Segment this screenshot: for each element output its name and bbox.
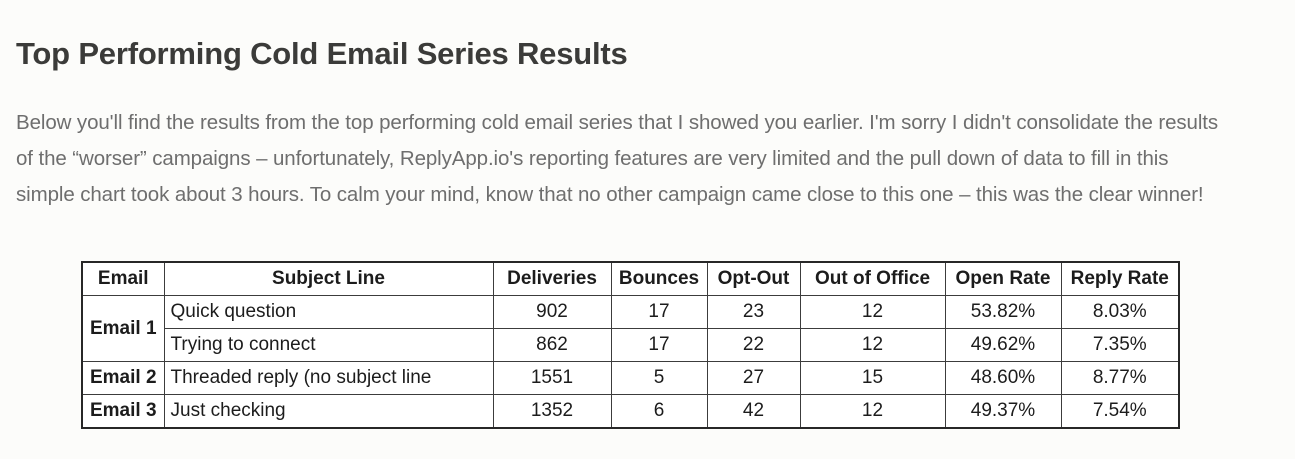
results-table-container: Email Subject Line Deliveries Bounces Op… <box>81 261 1178 429</box>
table-body: Email 1 Quick question 902 17 23 12 53.8… <box>82 296 1179 429</box>
cell-email: Email 3 <box>82 395 164 429</box>
cell-out-of-office: 12 <box>800 296 945 329</box>
cell-subject-line: Threaded reply (no subject line <box>164 362 493 395</box>
cell-opt-out: 27 <box>707 362 800 395</box>
cell-reply-rate: 7.35% <box>1061 329 1179 362</box>
cell-bounces: 5 <box>611 362 707 395</box>
cell-email: Email 2 <box>82 362 164 395</box>
document-page: Top Performing Cold Email Series Results… <box>0 0 1295 459</box>
column-header-reply-rate: Reply Rate <box>1061 262 1179 296</box>
cell-deliveries: 1551 <box>493 362 611 395</box>
column-header-email: Email <box>82 262 164 296</box>
column-header-subject-line: Subject Line <box>164 262 493 296</box>
cell-reply-rate: 7.54% <box>1061 395 1179 429</box>
column-header-out-of-office: Out of Office <box>800 262 945 296</box>
cell-opt-out: 42 <box>707 395 800 429</box>
column-header-deliveries: Deliveries <box>493 262 611 296</box>
column-header-opt-out: Opt-Out <box>707 262 800 296</box>
cell-deliveries: 902 <box>493 296 611 329</box>
cell-opt-out: 22 <box>707 329 800 362</box>
table-row: Email 2 Threaded reply (no subject line … <box>82 362 1179 395</box>
cell-out-of-office: 12 <box>800 329 945 362</box>
cell-open-rate: 53.82% <box>945 296 1061 329</box>
page-title: Top Performing Cold Email Series Results <box>16 35 628 72</box>
intro-paragraph: Below you'll find the results from the t… <box>16 105 1231 213</box>
cell-email: Email 1 <box>82 296 164 362</box>
cell-deliveries: 862 <box>493 329 611 362</box>
cell-reply-rate: 8.77% <box>1061 362 1179 395</box>
cell-subject-line: Just checking <box>164 395 493 429</box>
table-header: Email Subject Line Deliveries Bounces Op… <box>82 262 1179 296</box>
table-row: Email 1 Quick question 902 17 23 12 53.8… <box>82 296 1179 329</box>
cell-reply-rate: 8.03% <box>1061 296 1179 329</box>
cell-opt-out: 23 <box>707 296 800 329</box>
cell-bounces: 17 <box>611 296 707 329</box>
cell-bounces: 17 <box>611 329 707 362</box>
cell-out-of-office: 12 <box>800 395 945 429</box>
column-header-open-rate: Open Rate <box>945 262 1061 296</box>
column-header-bounces: Bounces <box>611 262 707 296</box>
cold-email-results-table: Email Subject Line Deliveries Bounces Op… <box>81 261 1180 429</box>
cell-open-rate: 49.62% <box>945 329 1061 362</box>
table-row: Email 3 Just checking 1352 6 42 12 49.37… <box>82 395 1179 429</box>
cell-open-rate: 48.60% <box>945 362 1061 395</box>
table-row: Trying to connect 862 17 22 12 49.62% 7.… <box>82 329 1179 362</box>
cell-open-rate: 49.37% <box>945 395 1061 429</box>
table-header-row: Email Subject Line Deliveries Bounces Op… <box>82 262 1179 296</box>
cell-subject-line: Trying to connect <box>164 329 493 362</box>
cell-out-of-office: 15 <box>800 362 945 395</box>
cell-subject-line: Quick question <box>164 296 493 329</box>
cell-deliveries: 1352 <box>493 395 611 429</box>
cell-bounces: 6 <box>611 395 707 429</box>
